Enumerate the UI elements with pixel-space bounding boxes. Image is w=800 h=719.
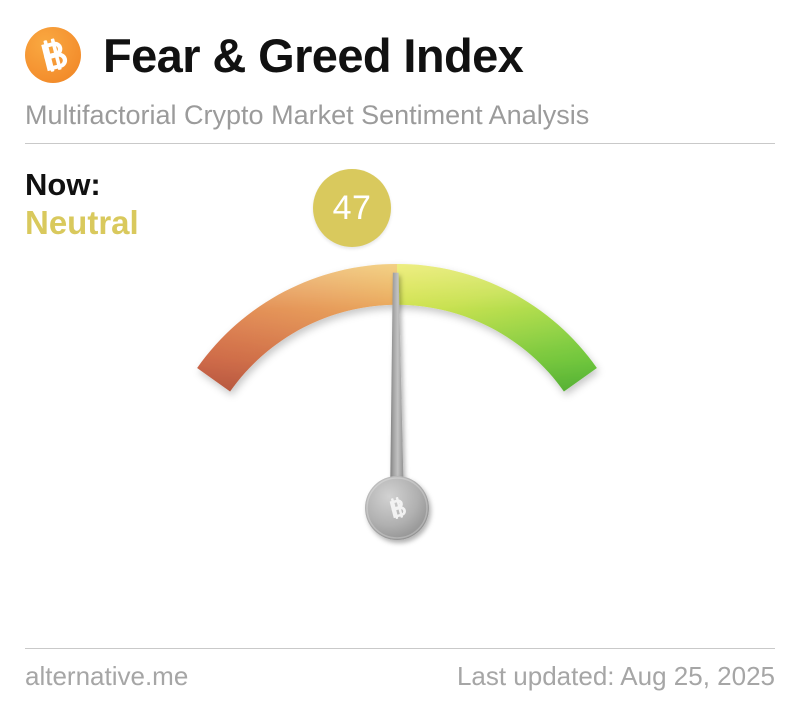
fear-greed-index-widget: Fear & Greed Index Multifactorial Crypto… (0, 0, 800, 719)
index-value-text: 47 (333, 191, 372, 225)
needle-hub (365, 476, 429, 540)
title-row: Fear & Greed Index (25, 22, 775, 88)
gauge-chart (0, 238, 800, 638)
last-updated-text: Last updated: Aug 25, 2025 (457, 663, 775, 689)
index-value-badge: 47 (313, 169, 391, 247)
status-block: Now: Neutral (25, 168, 139, 242)
bitcoin-icon (25, 27, 81, 83)
widget-header: Fear & Greed Index Multifactorial Crypto… (25, 22, 775, 132)
source-link[interactable]: alternative.me (25, 663, 188, 689)
header-divider (25, 143, 775, 144)
needle-pointer (390, 273, 404, 510)
page-subtitle: Multifactorial Crypto Market Sentiment A… (25, 102, 775, 129)
widget-footer: alternative.me Last updated: Aug 25, 202… (25, 663, 775, 689)
gauge-needle (390, 273, 404, 510)
status-now-label: Now: (25, 168, 139, 203)
footer-divider (25, 648, 775, 649)
status-sentiment-label: Neutral (25, 205, 139, 242)
page-title: Fear & Greed Index (103, 32, 523, 79)
